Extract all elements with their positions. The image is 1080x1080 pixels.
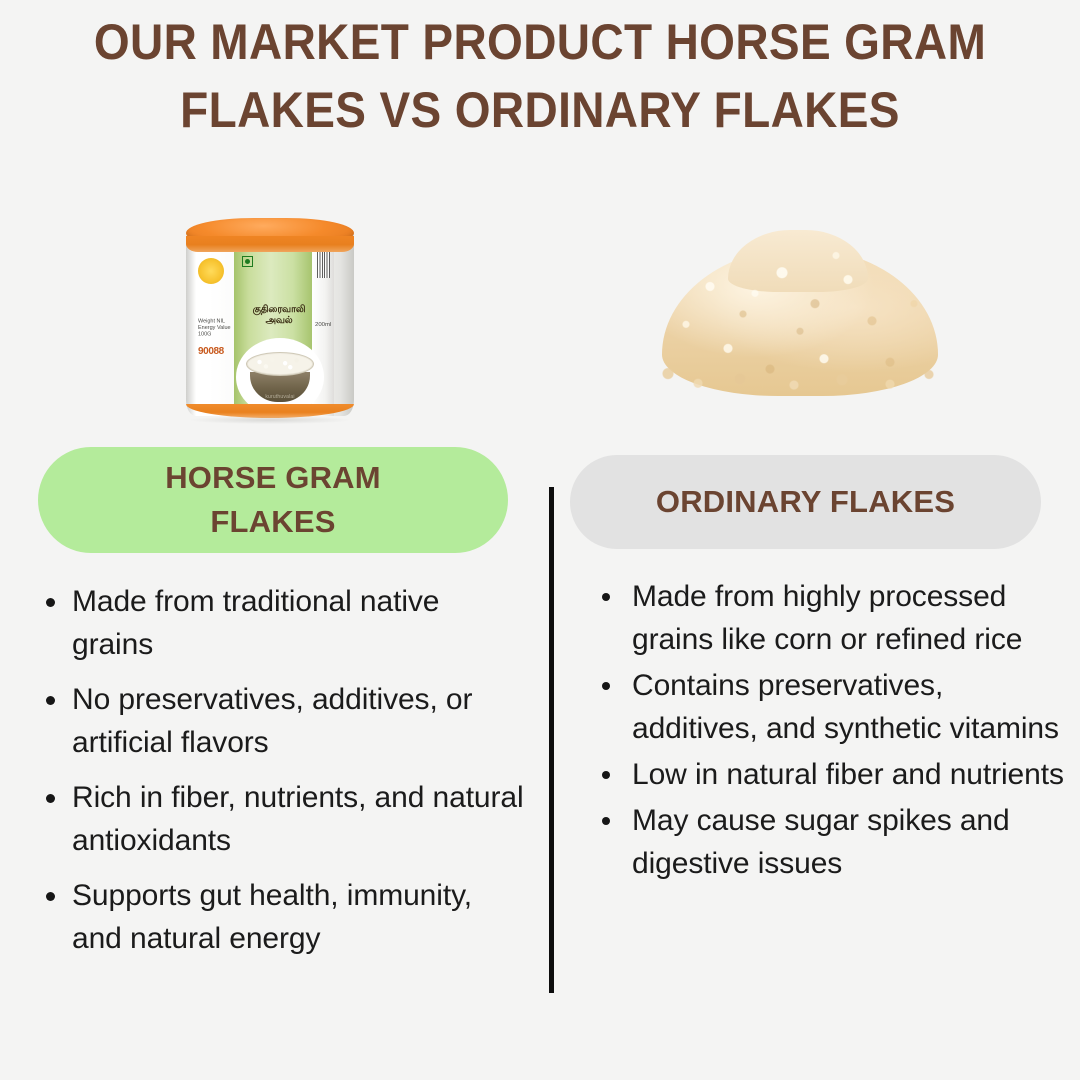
barcode-icon [317,248,330,278]
can-body: www.xxxfoods.in குதிரைவாலி அவல் Weight N… [186,230,354,416]
horse-gram-flakes-benefits-list: Made from traditional native grains No p… [38,580,528,972]
flakes-pile [650,228,950,400]
can-phone-text: 90088 [198,346,224,357]
badge-left-line-1: HORSE GRAM [165,456,381,500]
ordinary-flakes-pile-image [650,228,950,408]
can-lid-ring [186,236,354,252]
title-line-1: OUR MARKET PRODUCT HORSE GRAM [43,8,1037,76]
can-tamil-product-name: குதிரைவாலி அவல் [240,304,318,326]
tamil-line-2: அவல் [266,315,293,326]
bowl-grain-fill [248,354,312,374]
badge-ordinary-flakes: ORDINARY FLAKES [570,455,1041,549]
page-title: OUR MARKET PRODUCT HORSE GRAM FLAKES VS … [0,8,1080,144]
badge-left-line-2: FLAKES [165,500,381,544]
tamil-line-1: குதிரைவாலி [253,304,306,315]
vertical-divider [549,487,554,993]
list-item: No preservatives, additives, or artifici… [38,678,528,764]
list-item: Contains preservatives, additives, and s… [598,664,1068,750]
title-line-2: FLAKES VS ORDINARY FLAKES [43,76,1037,144]
bowl-caption-text: kuruthuvalai [236,394,324,400]
veg-mark-icon [242,256,253,267]
sun-logo-icon [198,258,224,284]
list-item: Low in natural fiber and nutrients [598,753,1068,796]
can-side-code-text: 200ml [315,322,331,327]
product-images-row: www.xxxfoods.in குதிரைவாலி அவல் Weight N… [0,150,1080,440]
badge-right-line-1: ORDINARY FLAKES [656,482,955,522]
ordinary-flakes-drawbacks-list: Made from highly processed grains like c… [598,575,1068,888]
list-item: May cause sugar spikes and digestive iss… [598,799,1068,885]
list-item: Rich in fiber, nutrients, and natural an… [38,776,528,862]
list-item: Made from highly processed grains like c… [598,575,1068,661]
infographic-canvas: OUR MARKET PRODUCT HORSE GRAM FLAKES VS … [0,0,1080,1080]
list-item: Made from traditional native grains [38,580,528,666]
flakes-scatter-edge [650,356,950,400]
badge-horse-gram-flakes: HORSE GRAM FLAKES [38,447,508,553]
can-spec-text: Weight NIL Energy Value 100G [198,319,232,339]
list-item: Supports gut health, immunity, and natur… [38,874,528,960]
badge-left-text: HORSE GRAM FLAKES [165,456,381,544]
can-shadow [190,416,350,424]
horse-gram-flakes-can-image: www.xxxfoods.in குதிரைவாலி அவல் Weight N… [178,212,364,424]
